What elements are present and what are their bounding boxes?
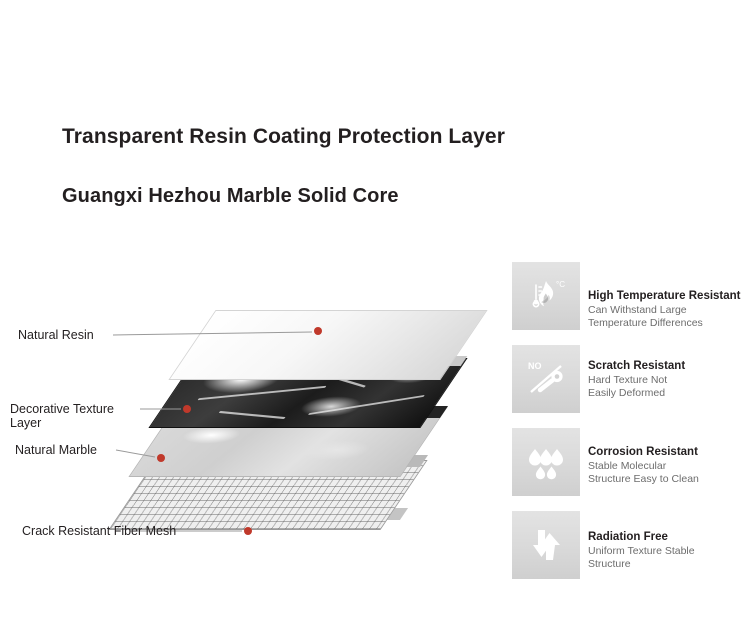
flame-temperature-icon: °C [524,274,568,318]
feature-text: Radiation Free Uniform Texture Stable St… [588,530,750,570]
callout-label-natural-marble: Natural Marble [15,443,97,457]
radiation-arrows-icon [524,523,568,567]
feature-title: Corrosion Resistant [588,445,750,459]
water-droplets-icon [523,439,569,485]
layer-natural-resin [192,310,464,380]
marble-panel-infographic: Transparent Resin Coating Protection Lay… [0,0,750,622]
feature-high-temperature-resistant: °C High Temperature Resistant Can Withst… [512,262,750,330]
feature-title: Radiation Free [588,530,750,544]
feature-text: Scratch Resistant Hard Texture Not Easil… [588,359,750,399]
callout-label-decorative-texture-layer: Decorative Texture Layer [10,402,114,430]
feature-title: High Temperature Resistant [588,289,750,303]
feature-subtitle: Hard Texture Not Easily Deformed [588,374,750,399]
feature-icon-box: NO [512,345,580,413]
feature-subtitle: Can Withstand Large Temperature Differen… [588,304,750,329]
no-scratch-key-icon: NO [522,355,570,403]
layer-natural-resin-face [168,310,487,380]
callout-label-natural-resin: Natural Resin [18,328,94,342]
feature-text: Corrosion Resistant Stable Molecular Str… [588,445,750,485]
feature-icon-box [512,511,580,579]
feature-radiation-free: Radiation Free Uniform Texture Stable St… [512,511,750,579]
feature-icon-box [512,428,580,496]
feature-title: Scratch Resistant [588,359,750,373]
feature-scratch-resistant: NO Scratch Resistant Hard Texture Not Ea… [512,345,750,413]
page-title-primary: Transparent Resin Coating Protection Lay… [62,125,505,149]
feature-icon-badge: °C [556,280,565,289]
feature-subtitle: Uniform Texture Stable Structure [588,545,750,570]
feature-icon-badge: NO [528,361,542,371]
feature-list: °C High Temperature Resistant Can Withst… [512,262,750,594]
feature-subtitle: Stable Molecular Structure Easy to Clean [588,460,750,485]
feature-corrosion-resistant: Corrosion Resistant Stable Molecular Str… [512,428,750,496]
feature-text: High Temperature Resistant Can Withstand… [588,289,750,329]
feature-icon-box: °C [512,262,580,330]
callout-label-crack-resistant-fiber-mesh: Crack Resistant Fiber Mesh [22,524,176,538]
page-title-secondary: Guangxi Hezhou Marble Solid Core [62,185,399,208]
